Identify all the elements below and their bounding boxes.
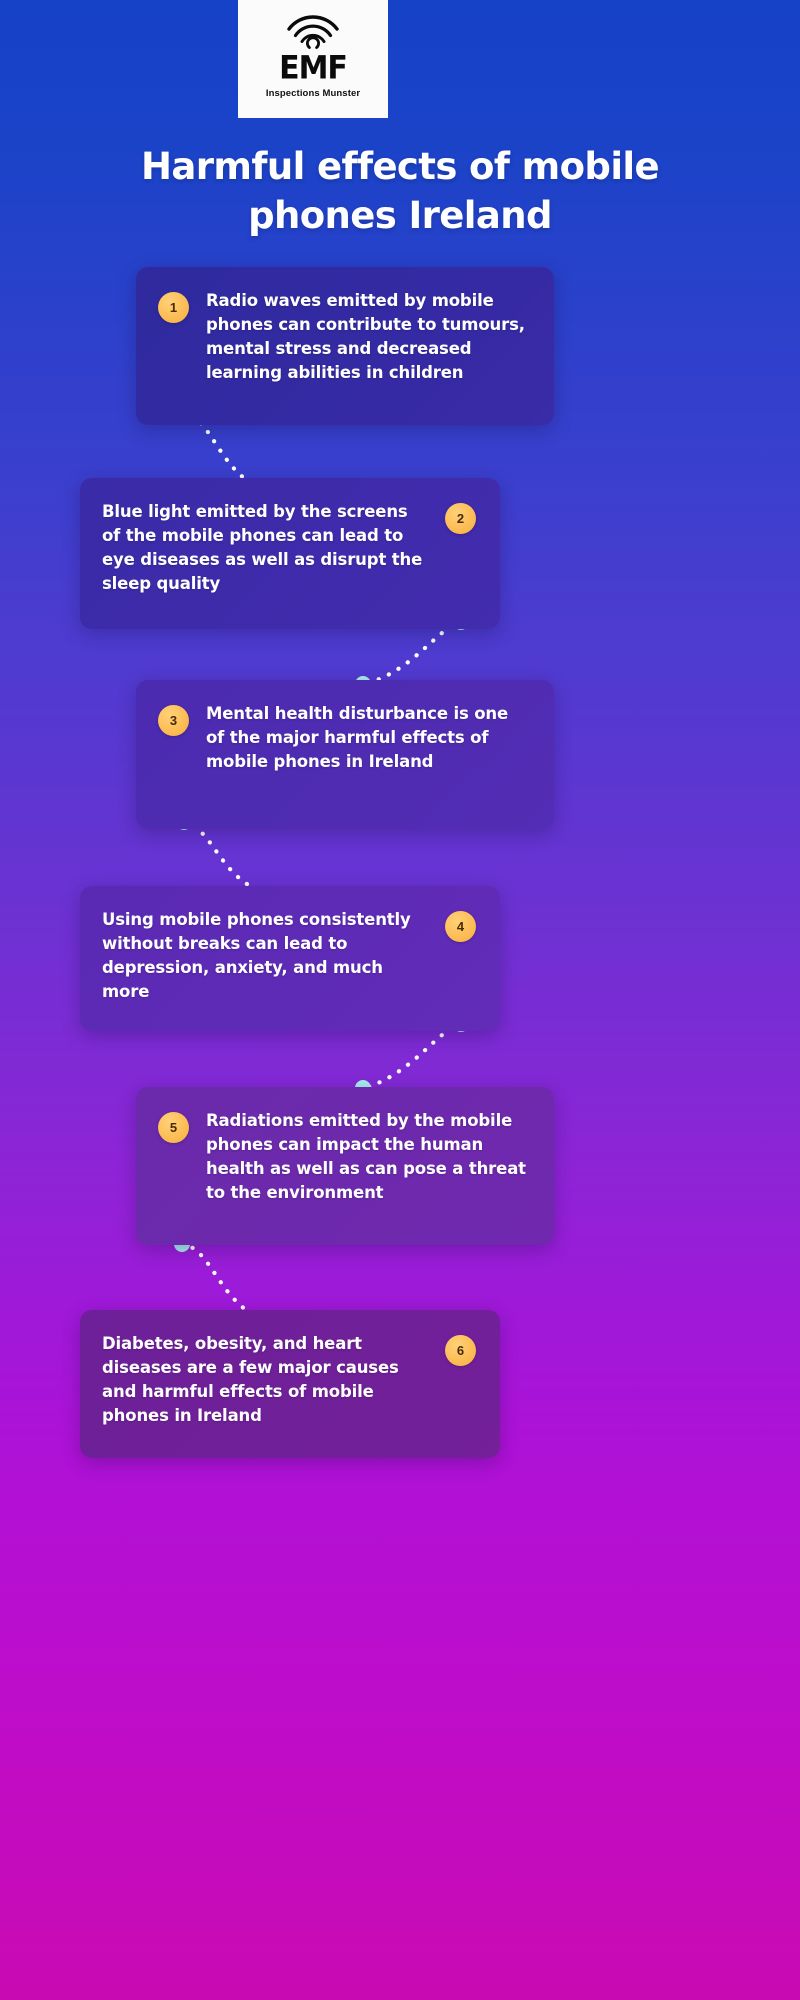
- fact-text-4: Using mobile phones consistently without…: [102, 908, 431, 1004]
- page-title-line2: phones Ireland: [248, 194, 552, 237]
- fact-card-2: Blue light emitted by the screens of the…: [80, 478, 500, 629]
- fact-card-5: 5 Radiations emitted by the mobile phone…: [136, 1087, 554, 1245]
- fact-number-badge-6: 6: [445, 1335, 476, 1366]
- fact-number-badge-1: 1: [158, 292, 189, 323]
- wifi-signal-icon: [285, 10, 341, 52]
- brand-logo: EMF Inspections Munster: [238, 0, 388, 118]
- fact-card-1: 1 Radio waves emitted by mobile phones c…: [136, 267, 554, 425]
- page-title-line1: Harmful effects of mobile: [141, 145, 659, 188]
- fact-text-5: Radiations emitted by the mobile phones …: [206, 1109, 530, 1205]
- fact-card-4: Using mobile phones consistently without…: [80, 886, 500, 1031]
- fact-text-2: Blue light emitted by the screens of the…: [102, 500, 431, 596]
- fact-number-badge-5: 5: [158, 1112, 189, 1143]
- fact-text-1: Radio waves emitted by mobile phones can…: [206, 289, 530, 385]
- fact-number-badge-2: 2: [445, 503, 476, 534]
- fact-text-3: Mental health disturbance is one of the …: [206, 702, 530, 774]
- page-title: Harmful effects of mobile phones Ireland: [0, 142, 800, 240]
- fact-text-6: Diabetes, obesity, and heart diseases ar…: [102, 1332, 431, 1428]
- fact-number-badge-3: 3: [158, 705, 189, 736]
- fact-card-6: Diabetes, obesity, and heart diseases ar…: [80, 1310, 500, 1458]
- brand-name: EMF: [279, 53, 347, 85]
- fact-card-3: 3 Mental health disturbance is one of th…: [136, 680, 554, 829]
- brand-tagline: Inspections Munster: [266, 88, 360, 99]
- fact-number-badge-4: 4: [445, 911, 476, 942]
